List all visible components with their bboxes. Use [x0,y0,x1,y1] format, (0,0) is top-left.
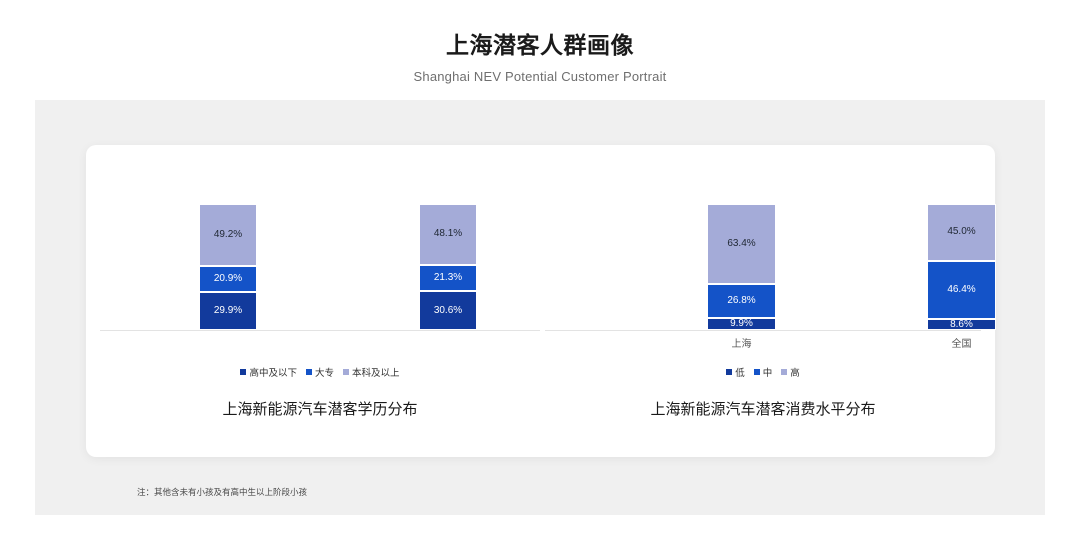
legend-swatch-icon [240,369,246,375]
bar-segment[interactable]: 20.9% [199,266,257,292]
legend-label: 高 [790,365,800,379]
legend-swatch-icon [754,369,760,375]
stacked-bar[interactable]: 48.1%21.3%30.6% [419,204,477,330]
stacked-bar[interactable]: 49.2%20.9%29.9% [199,204,257,330]
legend-swatch-icon [306,369,312,375]
chart-card: 49.2%20.9%29.9%48.1%21.3%30.6% 高中及以下大专本科… [86,145,995,457]
bar-segment[interactable]: 21.3% [419,265,477,292]
x-tick-label: 上海 [697,335,787,350]
chart-consumption-level-distribution: 63.4%26.8%9.9%45.0%46.4%8.6% 上海全国 低中高 上海… [545,145,981,457]
bar-segment[interactable]: 9.9% [707,318,776,330]
page-title: 上海潜客人群画像 [0,0,1080,60]
legend-label: 低 [735,365,745,379]
legend-swatch-icon [726,369,732,375]
bar-segment[interactable]: 29.9% [199,292,257,330]
bar-segment[interactable]: 49.2% [199,204,257,266]
legend-right: 低中高 [545,365,981,379]
x-tick-label: 全国 [917,335,1007,350]
bar-segment[interactable]: 8.6% [927,319,996,330]
legend-item[interactable]: 中 [754,365,773,379]
chart-education-distribution: 49.2%20.9%29.9%48.1%21.3%30.6% 高中及以下大专本科… [100,145,540,457]
legend-swatch-icon [781,369,787,375]
legend-label: 大专 [315,365,334,379]
bar-segment[interactable]: 45.0% [927,204,996,261]
chart-caption-right: 上海新能源汽车潜客消费水平分布 [545,398,981,419]
legend-item[interactable]: 高中及以下 [240,365,297,379]
bar-segment[interactable]: 30.6% [419,291,477,330]
stacked-bar[interactable]: 45.0%46.4%8.6% [927,204,996,330]
legend-label: 本科及以上 [352,365,400,379]
axis-line-left [100,330,540,331]
outer-panel: 49.2%20.9%29.9%48.1%21.3%30.6% 高中及以下大专本科… [35,100,1045,515]
plot-area-left: 49.2%20.9%29.9%48.1%21.3%30.6% 高中及以下大专本科… [100,159,540,345]
legend-label: 中 [763,365,773,379]
bars-container-right: 63.4%26.8%9.9%45.0%46.4%8.6% [545,159,981,330]
bar-segment[interactable]: 63.4% [707,204,776,284]
plot-area-right: 63.4%26.8%9.9%45.0%46.4%8.6% 上海全国 低中高 上海… [545,159,981,345]
bar-segment[interactable]: 46.4% [927,261,996,319]
footnote: 注：其他含未有小孩及有高中生以上阶段小孩 [137,486,307,498]
page-subtitle: Shanghai NEV Potential Customer Portrait [0,60,1080,84]
chart-caption-left: 上海新能源汽车潜客学历分布 [100,398,540,419]
legend-item[interactable]: 高 [781,365,800,379]
legend-item[interactable]: 低 [726,365,745,379]
legend-left: 高中及以下大专本科及以上 [100,365,540,379]
bar-segment[interactable]: 26.8% [707,284,776,318]
page-header: 上海潜客人群画像 Shanghai NEV Potential Customer… [0,0,1080,84]
bars-container-left: 49.2%20.9%29.9%48.1%21.3%30.6% [100,159,540,330]
stacked-bar[interactable]: 63.4%26.8%9.9% [707,204,776,330]
axis-line-right [545,330,981,331]
legend-swatch-icon [343,369,349,375]
bar-segment[interactable]: 48.1% [419,204,477,265]
legend-item[interactable]: 大专 [306,365,334,379]
legend-item[interactable]: 本科及以上 [343,365,400,379]
legend-label: 高中及以下 [249,365,297,379]
